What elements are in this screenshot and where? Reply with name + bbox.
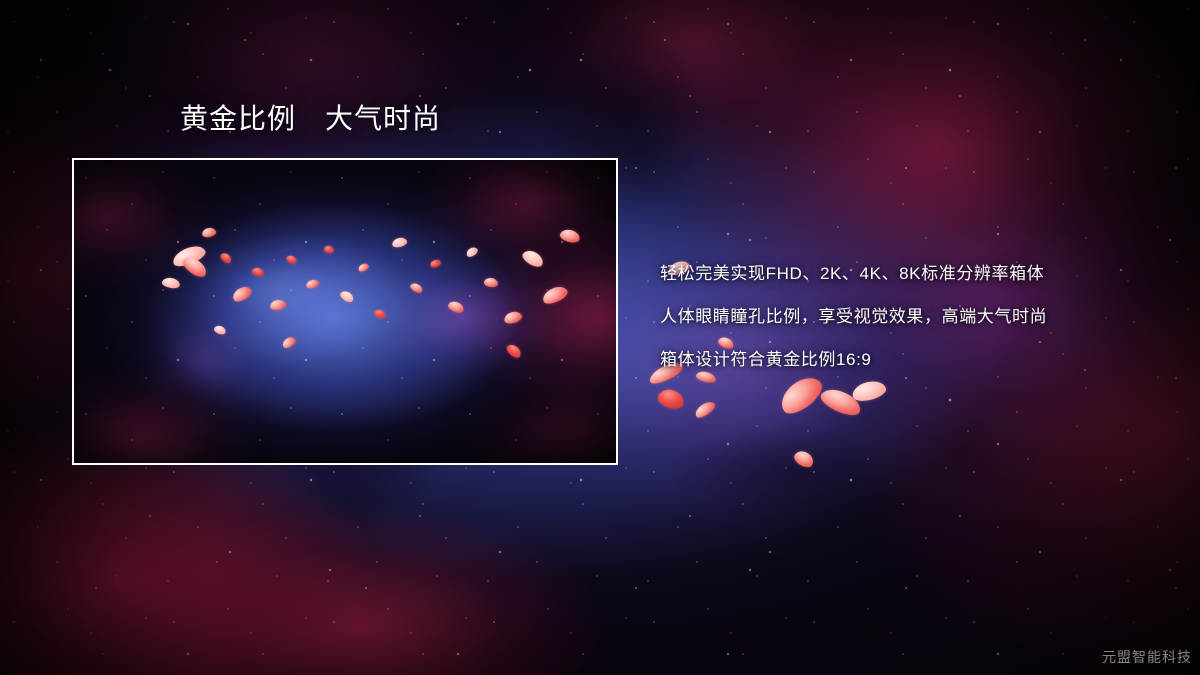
flower-petal — [656, 386, 686, 411]
flower-petal — [323, 245, 334, 254]
inner-starfield-layer — [74, 160, 616, 463]
flower-petal — [213, 324, 227, 336]
flower-petal — [429, 258, 442, 268]
flower-petal — [465, 245, 479, 258]
slide-canvas: 黄金比例 大气时尚 轻松完美实现FHD、2K、4K、8K标准分辨率箱体 人体眼睛… — [0, 0, 1200, 675]
flower-petal — [201, 227, 217, 239]
inner-nebula-base-layer — [74, 160, 616, 463]
flower-petal — [447, 299, 466, 314]
flower-petal — [391, 236, 408, 248]
flower-petal — [180, 254, 209, 280]
flower-petal — [409, 281, 424, 294]
body-text-block: 轻松完美实现FHD、2K、4K、8K标准分辨率箱体 人体眼睛瞳孔比例，享受视觉效… — [660, 252, 1160, 381]
flower-petal — [850, 378, 887, 404]
flower-petal — [281, 335, 298, 350]
body-line-3: 箱体设计符合黄金比例16:9 — [660, 338, 1160, 381]
page-title: 黄金比例 大气时尚 — [180, 102, 441, 136]
flower-petal — [559, 228, 581, 244]
flower-petal — [357, 262, 370, 273]
inner-vignette-layer — [74, 160, 616, 463]
body-line-2: 人体眼睛瞳孔比例，享受视觉效果，高端大气时尚 — [660, 295, 1160, 338]
flower-petal — [285, 254, 298, 265]
flower-petal — [251, 266, 265, 277]
flower-petal — [269, 299, 286, 311]
body-line-1: 轻松完美实现FHD、2K、4K、8K标准分辨率箱体 — [660, 252, 1160, 295]
flower-petal — [818, 384, 865, 419]
inner-nebula-crimson-layer — [74, 160, 616, 463]
inner-nebula-violet-layer — [74, 160, 616, 463]
watermark-text: 元盟智能科技 — [1102, 647, 1192, 667]
flower-petal — [483, 277, 498, 288]
flower-petal — [505, 342, 524, 360]
flower-petal — [520, 247, 546, 269]
flower-petal — [161, 277, 180, 290]
flower-petal — [693, 399, 717, 420]
flower-petal — [230, 284, 253, 304]
flower-petal — [503, 310, 523, 326]
flower-petal — [170, 242, 208, 270]
framed-nebula-image — [72, 158, 618, 465]
flower-petal — [540, 283, 569, 306]
flower-petal — [305, 278, 320, 290]
flower-petal — [219, 251, 233, 265]
flower-petal — [373, 309, 387, 320]
flower-petal — [339, 289, 356, 304]
flower-petal — [792, 448, 816, 470]
